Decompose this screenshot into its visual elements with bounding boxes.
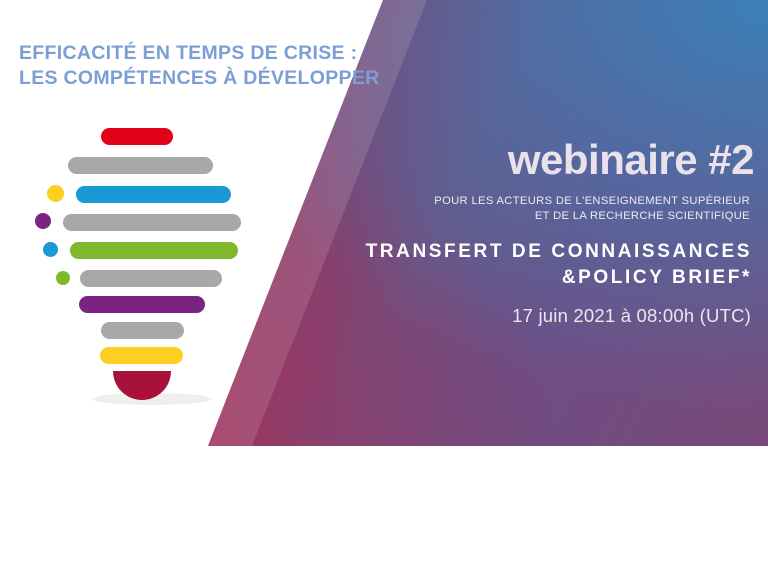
webinar-datetime: 17 juin 2021 à 08:00h (UTC) <box>512 305 751 327</box>
bar-purple <box>79 296 205 313</box>
dot-blue <box>43 242 58 257</box>
bar-blue <box>76 186 231 203</box>
bar-yellow <box>100 347 183 364</box>
lightbulb-illustration <box>0 0 300 420</box>
webinar-subject-heading: TRANSFERT DE CONNAISSANCES &POLICY BRIEF… <box>232 239 752 290</box>
bar-grey-2 <box>63 214 241 231</box>
poster-canvas: EFFICACITÉ EN TEMPS DE CRISE : LES COMPÉ… <box>0 0 768 576</box>
dot-green <box>56 271 70 285</box>
bar-grey-1 <box>68 157 213 174</box>
webinar-audience-text: POUR LES ACTEURS DE L'ENSEIGNEMENT SUPÉR… <box>280 194 750 223</box>
webinar-number-heading: webinaire #2 <box>508 135 754 185</box>
dot-yellow <box>47 185 64 202</box>
bar-green <box>70 242 238 259</box>
bar-grey-4 <box>101 322 184 339</box>
dot-purple <box>35 213 51 229</box>
bar-red <box>101 128 173 145</box>
logo-bar: RÉPUBLIQUE FRANÇAISE Liberté Égalité Fra… <box>0 446 768 576</box>
bar-grey-3 <box>80 270 222 287</box>
